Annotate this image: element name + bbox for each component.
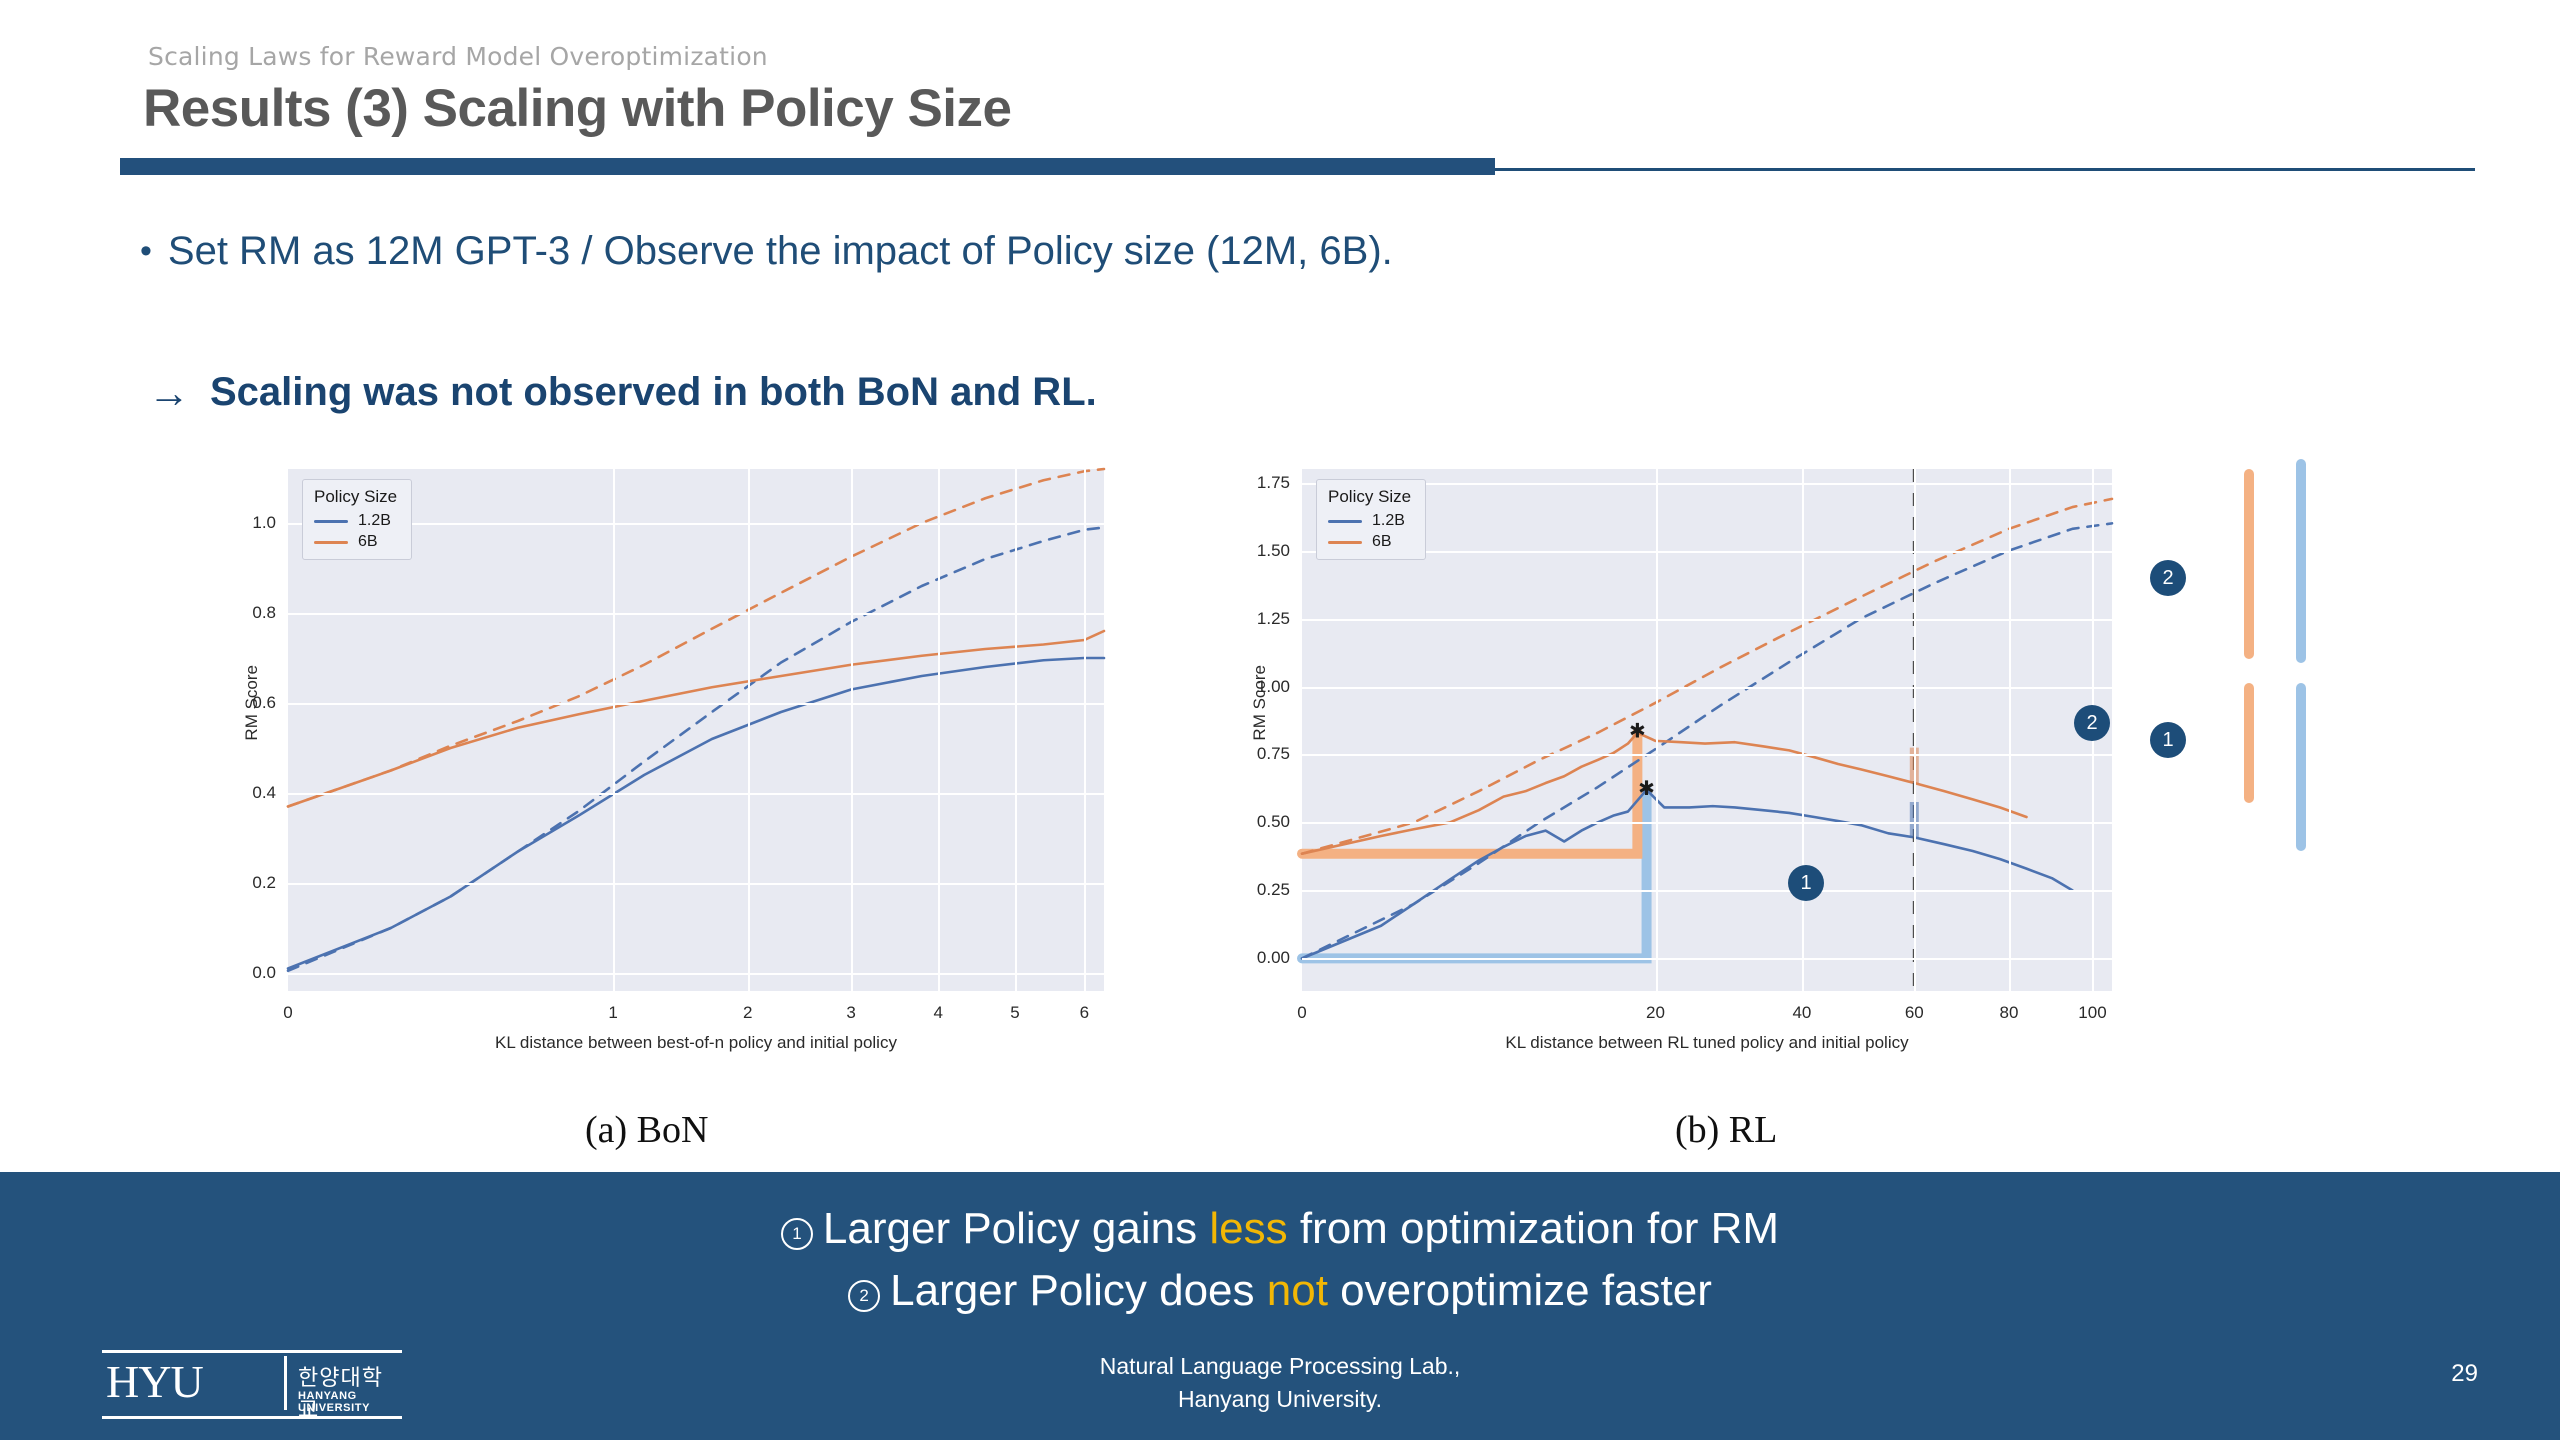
- gridline-horizontal: [1302, 687, 2112, 689]
- chart-bon: RM Score Policy Size 1.2B 6B KL distance…: [232, 455, 1112, 1065]
- x-axis-tick: 1: [608, 1003, 617, 1023]
- gridline-horizontal: [288, 793, 1104, 795]
- series-1-2b-fit: [288, 528, 1104, 971]
- takeaway-2-post: overoptimize faster: [1328, 1266, 1712, 1315]
- conclusion-item: → Scaling was not observed in both BoN a…: [148, 370, 1097, 415]
- annotation-badge-1: 1: [1788, 865, 1824, 901]
- y-axis-tick: 0.6: [252, 693, 276, 713]
- y-axis-tick: 0.0: [252, 963, 276, 983]
- x-axis-tick: 2: [743, 1003, 752, 1023]
- chart-bon-legend: Policy Size 1.2B 6B: [302, 479, 412, 560]
- y-axis-tick: 1.75: [1257, 473, 1290, 493]
- legend-label-1.2b: 1.2B: [1372, 512, 1405, 530]
- peak-marker-1-2b: ✱: [1638, 776, 1655, 800]
- gridline-vertical: [1084, 469, 1086, 991]
- figure-area: RM Score Policy Size 1.2B 6B KL distance…: [0, 455, 2560, 1105]
- legend-swatch-6b: [314, 541, 348, 544]
- takeaway-line-2: 2Larger Policy does not overoptimize fas…: [0, 1266, 2560, 1316]
- gridline-horizontal: [288, 613, 1104, 615]
- y-axis-tick: 0.25: [1257, 880, 1290, 900]
- x-axis-tick: 0: [283, 1003, 292, 1023]
- gain-bracket-1.2b: [1302, 790, 1647, 959]
- takeaway-line-1: 1Larger Policy gains less from optimizat…: [0, 1204, 2560, 1254]
- gridline-horizontal: [288, 973, 1104, 975]
- gridline-vertical: [1914, 469, 1916, 991]
- x-axis-tick: 3: [846, 1003, 855, 1023]
- takeaway-badge-2: 2: [848, 1280, 880, 1312]
- legend-entry-6b: 6B: [1328, 533, 1411, 551]
- legend-entry-6b: 6B: [314, 533, 397, 551]
- y-axis-tick: 1.50: [1257, 541, 1290, 561]
- legend-label-6b: 6B: [358, 533, 378, 551]
- footer-lab: Natural Language Processing Lab., Hanyan…: [0, 1350, 2560, 1416]
- gridline-vertical: [2009, 469, 2011, 991]
- title-divider-thick: [120, 158, 1495, 175]
- comparison-bars: 2 1: [2200, 455, 2440, 1015]
- gridline-vertical: [1015, 469, 1017, 991]
- page-number: 29: [2451, 1360, 2478, 1388]
- footer-lab-line-2: Hanyang University.: [0, 1383, 2560, 1416]
- gridline-horizontal: [288, 703, 1104, 705]
- chart-rl-xlabel: KL distance between RL tuned policy and …: [1505, 1033, 1908, 1053]
- takeaway-badge-1: 1: [781, 1218, 813, 1250]
- series-1-2b-fit: [1302, 523, 2112, 958]
- takeaway-2-pre: Larger Policy does: [890, 1266, 1267, 1315]
- x-axis-tick: 0: [1297, 1003, 1306, 1023]
- chart-rl-legend: Policy Size 1.2B 6B: [1316, 479, 1426, 560]
- legend-title: Policy Size: [314, 487, 397, 507]
- legend-entry-1.2b: 1.2B: [314, 512, 397, 530]
- chart-bon-plot: Policy Size 1.2B 6B KL distance between …: [288, 469, 1104, 991]
- y-axis-tick: 0.50: [1257, 812, 1290, 832]
- series-6b: [288, 631, 1104, 807]
- chart-bon-xlabel: KL distance between best-of-n policy and…: [495, 1033, 897, 1053]
- gridline-vertical: [613, 469, 615, 991]
- legend-swatch-1.2b: [314, 520, 348, 523]
- annotation-badge-2: 2: [2074, 705, 2110, 741]
- series-1-2b: [1302, 790, 2072, 959]
- bullet-text: Set RM as 12M GPT-3 / Observe the impact…: [168, 228, 1393, 274]
- y-axis-tick: 0.2: [252, 873, 276, 893]
- y-axis-tick: 1.25: [1257, 609, 1290, 629]
- y-axis-tick: 0.00: [1257, 948, 1290, 968]
- x-axis-tick: 5: [1010, 1003, 1019, 1023]
- arrow-right-icon: →: [148, 372, 190, 414]
- gridline-horizontal: [1302, 890, 2112, 892]
- bullet-item: • Set RM as 12M GPT-3 / Observe the impa…: [140, 228, 1393, 274]
- gridline-horizontal: [1302, 619, 2112, 621]
- legend-label-1.2b: 1.2B: [358, 512, 391, 530]
- bullet-marker-icon: •: [140, 228, 152, 274]
- takeaway-1-pre: Larger Policy gains: [823, 1204, 1209, 1253]
- y-axis-tick: 0.75: [1257, 744, 1290, 764]
- takeaway-1-post: from optimization for RM: [1288, 1204, 1779, 1253]
- gridline-horizontal: [1302, 754, 2112, 756]
- x-axis-tick: 6: [1080, 1003, 1089, 1023]
- gridline-vertical: [1802, 469, 1804, 991]
- takeaway-1-highlight: less: [1209, 1204, 1287, 1253]
- x-axis-tick: 20: [1646, 1003, 1665, 1023]
- takeaway-2-highlight: not: [1267, 1266, 1328, 1315]
- gridline-horizontal: [1302, 822, 2112, 824]
- x-axis-tick: 4: [933, 1003, 942, 1023]
- x-axis-tick: 80: [2000, 1003, 2019, 1023]
- comparison-badge-2: 2: [2150, 560, 2186, 596]
- x-axis-tick: 100: [2078, 1003, 2106, 1023]
- y-axis-tick: 0.4: [252, 783, 276, 803]
- caption-bon: (a) BoN: [585, 1108, 708, 1152]
- gridline-horizontal: [1302, 958, 2112, 960]
- chart-rl-plot: Policy Size 1.2B 6B ✱✱ KL distance betwe…: [1302, 469, 2112, 991]
- comparison-bar-2-1.2b: [2296, 459, 2306, 663]
- legend-swatch-1.2b: [1328, 520, 1362, 523]
- legend-swatch-6b: [1328, 541, 1362, 544]
- comparison-bar-2-6b: [2244, 469, 2254, 659]
- gridline-vertical: [851, 469, 853, 991]
- caption-rl: (b) RL: [1675, 1108, 1777, 1152]
- slide: Scaling Laws for Reward Model Overoptimi…: [0, 0, 2560, 1440]
- peak-marker-6b: ✱: [1629, 719, 1646, 743]
- legend-entry-1.2b: 1.2B: [1328, 512, 1411, 530]
- x-axis-tick: 60: [1905, 1003, 1924, 1023]
- gridline-vertical: [938, 469, 940, 991]
- page-title: Results (3) Scaling with Policy Size: [143, 78, 1012, 139]
- comparison-bar-1-6b: [2244, 683, 2254, 803]
- gridline-vertical: [1656, 469, 1658, 991]
- x-axis-tick: 40: [1792, 1003, 1811, 1023]
- paper-reference: Scaling Laws for Reward Model Overoptimi…: [148, 42, 768, 71]
- comparison-badge-1: 1: [2150, 722, 2186, 758]
- gridline-vertical: [748, 469, 750, 991]
- legend-title: Policy Size: [1328, 487, 1411, 507]
- conclusion-text: Scaling was not observed in both BoN and…: [210, 370, 1097, 415]
- gridline-horizontal: [288, 883, 1104, 885]
- y-axis-tick: 1.0: [252, 513, 276, 533]
- y-axis-tick: 0.8: [252, 603, 276, 623]
- y-axis-tick: 1.00: [1257, 677, 1290, 697]
- footer-lab-line-1: Natural Language Processing Lab.,: [0, 1350, 2560, 1383]
- comparison-bar-1-1.2b: [2296, 683, 2306, 851]
- chart-rl: RM Score Policy Size 1.2B 6B ✱✱ KL dista…: [1240, 455, 2140, 1065]
- legend-label-6b: 6B: [1372, 533, 1392, 551]
